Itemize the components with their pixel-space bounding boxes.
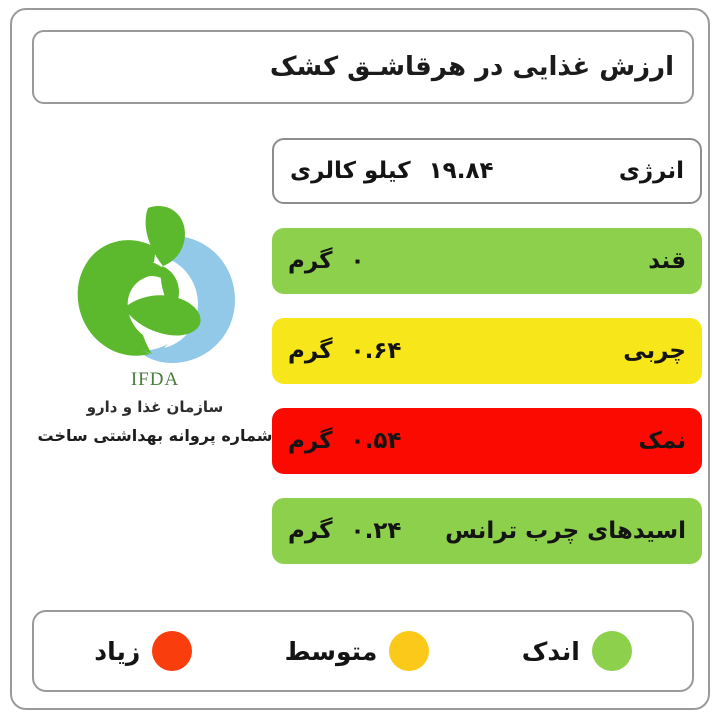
nutrient-name: چربی bbox=[623, 338, 686, 364]
nutrient-value: ۱۹.۸۴ bbox=[429, 158, 494, 184]
nutrient-value: ۰.۵۴ bbox=[351, 428, 402, 454]
nutrient-name: قند bbox=[648, 248, 686, 274]
ifda-organization-name: سازمان غذا و دارو bbox=[87, 398, 224, 416]
nutrient-unit: کیلو کالری bbox=[290, 158, 411, 184]
nutrient-row-fat: چربی ۰.۶۴ گرم bbox=[272, 318, 702, 384]
legend-dot-green-icon bbox=[592, 631, 632, 671]
legend-item-low: اندک bbox=[522, 631, 632, 671]
ifda-apple-logo-icon bbox=[72, 200, 238, 368]
legend-dot-yellow-icon bbox=[389, 631, 429, 671]
nutrient-row-energy: انرژی ۱۹.۸۴ کیلو کالری bbox=[272, 138, 702, 204]
nutrient-unit: گرم bbox=[288, 338, 333, 364]
nutrient-row-trans-fat: اسیدهای چرب ترانس ۰.۲۴ گرم bbox=[272, 498, 702, 564]
nutrient-value: ۰ bbox=[351, 248, 365, 274]
page-title: ارزش غذایی در هرقاشـق کشک bbox=[270, 52, 674, 82]
legend-label: متوسط bbox=[285, 637, 378, 666]
legend-item-medium: متوسط bbox=[285, 631, 430, 671]
nutrition-label-card: ارزش غذایی در هرقاشـق کشک IFDA سازم bbox=[10, 8, 710, 710]
health-license-label: شماره پروانه بهداشتی ساخت bbox=[38, 426, 273, 445]
nutrient-name: نمک bbox=[638, 428, 686, 454]
nutrient-name: انرژی bbox=[619, 158, 684, 184]
ifda-logo-block: IFDA سازمان غذا و دارو شماره پروانه بهدا… bbox=[40, 200, 270, 465]
nutrient-unit: گرم bbox=[288, 428, 333, 454]
legend-dot-red-icon bbox=[152, 631, 192, 671]
nutrient-rows: انرژی ۱۹.۸۴ کیلو کالری قند ۰ گرم چربی ۰.… bbox=[272, 138, 702, 586]
legend-label: زیاد bbox=[94, 637, 140, 666]
nutrient-name: اسیدهای چرب ترانس bbox=[445, 518, 686, 544]
nutrient-unit: گرم bbox=[288, 518, 333, 544]
nutrient-value: ۰.۲۴ bbox=[351, 518, 402, 544]
nutrient-unit: گرم bbox=[288, 248, 333, 274]
title-box: ارزش غذایی در هرقاشـق کشک bbox=[32, 30, 694, 104]
ifda-acronym: IFDA bbox=[131, 369, 179, 391]
nutrient-row-salt: نمک ۰.۵۴ گرم bbox=[272, 408, 702, 474]
legend-item-high: زیاد bbox=[94, 631, 192, 671]
nutrient-row-sugar: قند ۰ گرم bbox=[272, 228, 702, 294]
legend-label: اندک bbox=[522, 637, 580, 666]
legend: اندک متوسط زیاد bbox=[32, 610, 694, 692]
nutrient-value: ۰.۶۴ bbox=[351, 338, 402, 364]
